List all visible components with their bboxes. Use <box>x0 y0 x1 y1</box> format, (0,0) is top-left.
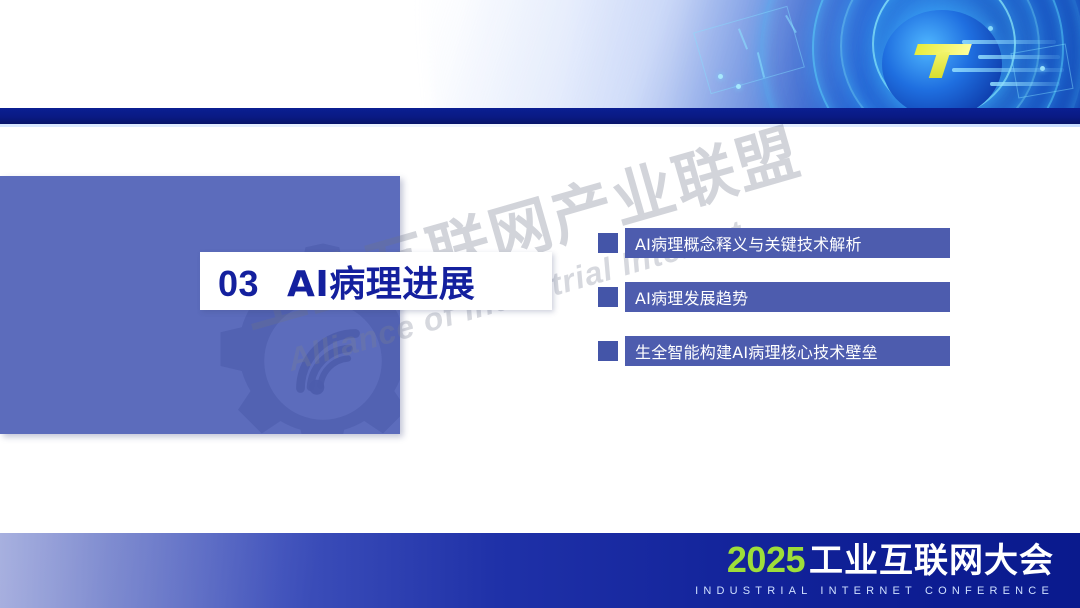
agenda-item-label: 生全智能构建AI病理核心技术壁垒 <box>625 339 878 363</box>
conference-name-cn: 工业互联网大会 <box>809 544 1054 578</box>
conference-name-en: INDUSTRIAL INTERNET CONFERENCE <box>695 586 1054 597</box>
list-item[interactable]: AI病理发展趋势 <box>598 282 950 312</box>
node-dot-2-icon <box>736 84 741 89</box>
data-line-3-icon <box>952 68 1064 72</box>
conference-logo-main: 2025 工业互联网大会 <box>695 542 1054 578</box>
header-rule-highlight <box>0 124 1080 127</box>
agenda-item-bar-1[interactable]: AI病理概念释义与关键技术解析 <box>625 228 950 258</box>
agenda-item-label: AI病理发展趋势 <box>625 285 748 309</box>
list-item[interactable]: AI病理概念释义与关键技术解析 <box>598 228 950 258</box>
data-line-2-icon <box>978 55 1060 59</box>
conference-logo: 2025 工业互联网大会 INDUSTRIAL INTERNET CONFERE… <box>695 542 1054 597</box>
presentation-slide: 工业互联网产业联盟 Alliance of Industrial Interne… <box>0 0 1080 608</box>
slide-footer-bar: 2025 工业互联网大会 INDUSTRIAL INTERNET CONFERE… <box>0 533 1080 608</box>
agenda-item-label: AI病理概念释义与关键技术解析 <box>625 231 862 255</box>
page-title: AI病理进展 <box>287 264 475 305</box>
list-item[interactable]: 生全智能构建AI病理核心技术壁垒 <box>598 336 950 366</box>
bullet-square-icon <box>598 287 618 307</box>
data-line-1-icon <box>962 40 1056 44</box>
section-number: 03 <box>218 263 259 304</box>
conference-year: 2025 <box>727 542 805 578</box>
bullet-square-icon <box>598 233 618 253</box>
data-line-4-icon <box>990 82 1060 86</box>
agenda-item-bar-3[interactable]: 生全智能构建AI病理核心技术壁垒 <box>625 336 950 366</box>
bullet-square-icon <box>598 341 618 361</box>
agenda-list: AI病理概念释义与关键技术解析 AI病理发展趋势 生全智能构建AI病理核心技术壁… <box>598 228 950 366</box>
agenda-item-bar-2[interactable]: AI病理发展趋势 <box>625 282 950 312</box>
header-navy-rule <box>0 108 1080 124</box>
footer-highlight-sheen <box>0 533 420 608</box>
yellow-t-logo-icon <box>916 44 970 78</box>
section-title-banner: 03AI病理进展 <box>200 252 552 310</box>
section-title-line: 03AI病理进展 <box>200 255 475 307</box>
slide-header-banner <box>0 0 1080 108</box>
node-dot-1-icon <box>718 74 723 79</box>
